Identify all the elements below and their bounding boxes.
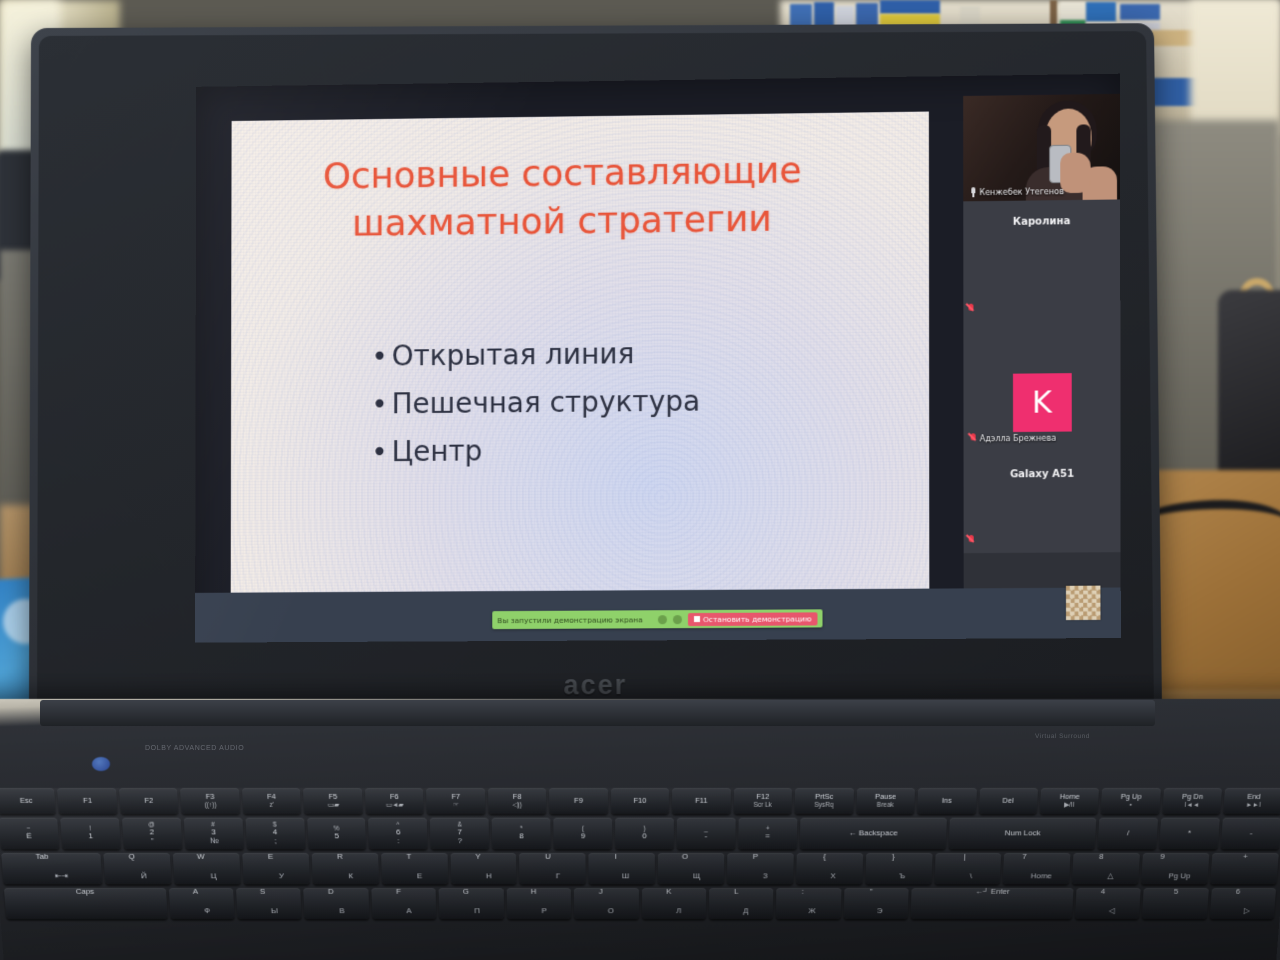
key-label: F11 xyxy=(695,797,707,805)
key-+[interactable]: + xyxy=(1210,853,1279,884)
key-label: = xyxy=(765,833,770,841)
slide-bullet-item: Центр xyxy=(371,424,899,476)
key-esc[interactable]: Esc xyxy=(0,788,56,814)
key-w[interactable]: WЦ xyxy=(173,853,241,884)
key-sublabel: Scr Lk xyxy=(753,801,771,808)
key-label: F1 xyxy=(83,797,92,805)
key-cyrillic-label: Ж xyxy=(808,908,815,916)
chessboard-thumbnail[interactable] xyxy=(1066,586,1101,620)
key-cyrillic-label: Г xyxy=(556,873,560,881)
key-label: Pg Up xyxy=(1120,793,1141,801)
key-label: 0 xyxy=(642,833,646,841)
key-f5[interactable]: F5▭▰ xyxy=(303,788,362,814)
key-label: " xyxy=(870,888,873,896)
key-1[interactable]: !1 xyxy=(60,818,121,849)
key-cyrillic-label: З xyxy=(763,873,768,881)
key-label: PrtSc xyxy=(815,793,834,801)
mic-off-icon-wrap xyxy=(968,535,975,547)
key--[interactable]: _- xyxy=(677,818,736,849)
key-}[interactable]: }Ъ xyxy=(865,853,932,884)
key-j[interactable]: JО xyxy=(574,888,639,919)
key-cyrillic-label: Э xyxy=(877,908,883,916)
key-sublabel: ▭◄▰ xyxy=(386,801,404,808)
avatar: K xyxy=(1012,373,1071,432)
key-:[interactable]: :Ж xyxy=(776,888,841,919)
key-shift-label: _ xyxy=(704,826,708,833)
key-8[interactable]: *8 xyxy=(492,818,551,849)
key-cyrillic-label: \ xyxy=(970,873,973,881)
key-f8[interactable]: F8◁)) xyxy=(488,788,547,814)
key-cyrillic-label: Й xyxy=(141,873,147,881)
dolby-audio-label: DOLBY ADVANCED AUDIO xyxy=(145,745,244,752)
key-f4[interactable]: F4z' xyxy=(242,788,302,814)
key-end[interactable]: End►►I xyxy=(1224,788,1280,814)
key-shift-label: $ xyxy=(273,821,277,828)
key-o[interactable]: OЩ xyxy=(658,853,724,884)
keyboard-qwerty-row[interactable]: Tab⇤⇥QЙWЦEУRКTЕYНUГIШOЩPЗ{Х}Ъ|\7Home8△9P… xyxy=(0,853,1280,884)
key-cyrillic-label: Ы xyxy=(271,908,278,916)
key-cyrillic-label: ? xyxy=(458,837,463,845)
key-label: D xyxy=(328,888,334,896)
key-label: F8 xyxy=(513,793,522,801)
key-label: F12 xyxy=(756,793,769,801)
key-=[interactable]: += xyxy=(738,818,797,849)
key-sublabel: I◄◄ xyxy=(1184,801,1199,808)
key-del[interactable]: Del xyxy=(978,788,1038,814)
key-cyrillic-label: Е xyxy=(417,873,423,881)
key-num-lock[interactable]: Num Lock xyxy=(949,818,1097,849)
slide-bullet-item: Пешечная структура xyxy=(371,376,899,429)
key-cyrillic-label: Ф xyxy=(204,908,210,916)
key-label: ← Backspace xyxy=(848,829,897,837)
key-label: Pg Dn xyxy=(1182,793,1203,801)
key-shift-label: ~ xyxy=(26,826,30,833)
key-label: F4 xyxy=(267,793,276,801)
participant-name: Кенжебек Утегенов xyxy=(979,187,1064,197)
key-label: 6 xyxy=(1235,888,1240,896)
key-cyrillic-label: Д xyxy=(743,908,748,916)
key-9[interactable]: 9Pg Up xyxy=(1141,853,1209,884)
key-cyrillic-label: В xyxy=(339,908,345,916)
key-cyrillic-label: К xyxy=(348,873,353,881)
participant-tile-name-only[interactable]: Каролина xyxy=(963,199,1120,321)
key-pg-dn[interactable]: Pg DnI◄◄ xyxy=(1162,788,1222,814)
key-label: F xyxy=(396,888,401,896)
key-label: 9 xyxy=(1160,853,1165,861)
key-cyrillic-label: П xyxy=(474,908,480,916)
key-label: 1 xyxy=(88,833,93,841)
key-cyrillic-label: Ъ xyxy=(899,873,906,881)
key-shift-label: # xyxy=(211,821,215,828)
key-sublabel: ▶/II xyxy=(1064,801,1075,808)
participant-name: Каролина xyxy=(963,216,1120,229)
participant-name: Адэлла Брежнева xyxy=(980,433,1056,443)
key-shift-label: * xyxy=(520,826,523,833)
key-label: 5 xyxy=(1173,888,1178,896)
key-*[interactable]: * xyxy=(1159,818,1220,849)
key-label: Del xyxy=(1002,797,1014,805)
participant-tile-video[interactable]: Кенжебек Утегенов xyxy=(963,94,1120,202)
key-sublabel: ▭▰ xyxy=(328,801,339,808)
key-label: L xyxy=(734,888,738,896)
key-shift-label: ! xyxy=(89,826,91,833)
key-sublabel: ◁)) xyxy=(513,801,522,808)
stop-share-label: Остановить демонстрацию xyxy=(703,614,811,624)
key-prtsc[interactable]: PrtScSysRq xyxy=(795,788,854,814)
key-label: F7 xyxy=(451,793,460,801)
shared-slide: Основные составляющие шахматной стратеги… xyxy=(231,112,930,608)
key-cyrillic-label: ▷ xyxy=(1243,908,1250,916)
key-home[interactable]: Home▶/II xyxy=(1040,788,1100,814)
key-label: 8 xyxy=(519,833,524,841)
key-label: H xyxy=(531,888,537,896)
key-label: | xyxy=(963,853,965,861)
key-cyrillic-label: Х xyxy=(830,873,835,881)
key-5[interactable]: 5 xyxy=(1142,888,1209,919)
participant-tile-device[interactable]: Galaxy A51 xyxy=(964,446,1121,553)
slide-title-line1: Основные составляющие xyxy=(231,146,894,202)
participant-tile-avatar[interactable]: K Адэлла Брежнева xyxy=(963,320,1120,447)
mic-off-icon xyxy=(968,535,975,545)
key-sublabel: SysRq xyxy=(814,801,833,808)
key-e[interactable]: EУ xyxy=(242,853,310,884)
key-g[interactable]: GП xyxy=(439,888,504,919)
key-sublabel: ☞ xyxy=(453,801,459,808)
key-h[interactable]: HР xyxy=(506,888,571,919)
key-←-backspace[interactable]: ← Backspace xyxy=(800,818,947,849)
stop-square-icon xyxy=(694,616,700,622)
key-label: F5 xyxy=(328,793,337,801)
key-cyrillic-label: " xyxy=(151,837,154,845)
key-l[interactable]: LД xyxy=(709,888,774,919)
participant-name: Galaxy A51 xyxy=(964,468,1121,480)
key-cyrillic-label: Л xyxy=(676,908,681,916)
key-pause[interactable]: PauseBreak xyxy=(856,788,915,814)
key-label: P xyxy=(753,853,758,861)
key-ё[interactable]: ~Ё xyxy=(0,818,59,849)
key-sublabel: z' xyxy=(269,801,274,808)
key-5[interactable]: %5 xyxy=(307,818,367,849)
power-indicator-icon xyxy=(92,757,110,771)
key-f9[interactable]: F9 xyxy=(549,788,608,814)
pin-icon xyxy=(969,187,976,197)
key-f3[interactable]: F3((↑)) xyxy=(180,788,240,814)
mic-off-icon xyxy=(970,433,977,443)
key-label: 4 xyxy=(1100,888,1105,896)
key-cyrillic-label: ⇤⇥ xyxy=(55,873,69,881)
key-cyrillic-label: О xyxy=(608,908,614,916)
key-label: F3 xyxy=(206,793,215,801)
key-label: 9 xyxy=(581,833,585,841)
laptop-hinge xyxy=(40,700,1155,726)
key-pg-up[interactable]: Pg Up▪ xyxy=(1101,788,1161,814)
key-{[interactable]: {Х xyxy=(796,853,863,884)
key-label: T xyxy=(406,853,411,861)
key-cyrillic-label: Pg Up xyxy=(1168,873,1191,881)
key-q[interactable]: QЙ xyxy=(104,853,172,884)
key-f6[interactable]: F6▭◄▰ xyxy=(365,788,424,814)
key-cyrillic-label: △ xyxy=(1107,873,1114,881)
key-t[interactable]: TЕ xyxy=(381,853,448,884)
key-a[interactable]: AФ xyxy=(168,888,234,919)
key-7[interactable]: 7Home xyxy=(1003,853,1071,884)
key-f7[interactable]: F7☞ xyxy=(426,788,485,814)
key-label: - xyxy=(705,833,708,841)
key-i[interactable]: IШ xyxy=(589,853,655,884)
laptop: acer Основные составляющие шахматной стр… xyxy=(0,0,1280,960)
key-label: + xyxy=(1243,853,1248,861)
key-label: Num Lock xyxy=(1004,829,1040,837)
key-shift-label: ^ xyxy=(396,821,399,828)
key-label: } xyxy=(892,853,895,861)
key-f12[interactable]: F12Scr Lk xyxy=(733,788,792,814)
key-6[interactable]: 6▷ xyxy=(1209,888,1276,919)
key-cyrillic-label: Н xyxy=(486,873,492,881)
key-cyrillic-label: Р xyxy=(542,908,547,916)
key-label: Q xyxy=(128,853,135,861)
key-label: F6 xyxy=(390,793,399,801)
key-cyrillic-label: № xyxy=(209,837,218,845)
key-tab[interactable]: Tab⇤⇥ xyxy=(1,853,103,884)
key-cyrillic-label: Щ xyxy=(693,873,700,881)
key-y[interactable]: YН xyxy=(450,853,517,884)
key-label: S xyxy=(260,888,266,896)
share-status-text: Вы запустили демонстрацию экрана xyxy=(497,615,652,625)
slide-title: Основные составляющие шахматной стратеги… xyxy=(231,146,894,250)
key-label: G xyxy=(463,888,469,896)
key-label: * xyxy=(1188,829,1192,837)
key--[interactable]: - xyxy=(1221,818,1280,849)
key-label: 5 xyxy=(334,833,339,841)
laptop-screen: Основные составляющие шахматной стратеги… xyxy=(195,74,1121,643)
key-cyrillic-label: Ц xyxy=(210,873,216,881)
key-k[interactable]: KЛ xyxy=(641,888,706,919)
key-cyrillic-label: А xyxy=(406,908,412,916)
key-|[interactable]: |\ xyxy=(934,853,1001,884)
key-shift-label: ( xyxy=(582,826,584,833)
key-cyrillic-label: У xyxy=(279,873,284,881)
key-enter[interactable]: ←┘ Enter xyxy=(911,888,1074,919)
key-label: { xyxy=(823,853,826,861)
key-sublabel: ►►I xyxy=(1246,801,1261,808)
key-label: A xyxy=(193,888,199,896)
key-label: E xyxy=(268,853,274,861)
mic-off-icon xyxy=(967,304,974,314)
mic-off-icon-wrap xyxy=(967,304,974,316)
key-2[interactable]: @2" xyxy=(122,818,182,849)
key-label: Home xyxy=(1059,793,1079,801)
key-label: J xyxy=(599,888,603,896)
key-label: ←┘ Enter xyxy=(975,888,1010,896)
key-/[interactable]: / xyxy=(1098,818,1158,849)
key-shift-label: @ xyxy=(148,821,155,828)
key-label: : xyxy=(802,888,804,896)
key-label: F10 xyxy=(633,797,646,805)
stop-share-button[interactable]: Остановить демонстрацию xyxy=(688,612,818,626)
mute-icon[interactable] xyxy=(658,615,667,624)
key-7[interactable]: &7? xyxy=(430,818,489,849)
keyboard-function-row[interactable]: EscF1F2F3((↑))F4z'F5▭▰F6▭◄▰F7☞F8◁))F9F10… xyxy=(0,788,1280,814)
zoom-participant-rail[interactable]: Кенжебек Утегенов Каролина K Адэлла Бреж… xyxy=(963,94,1121,589)
key-label: Y xyxy=(475,853,480,861)
key-9[interactable]: (9 xyxy=(553,818,612,849)
key-sublabel: ▪ xyxy=(1129,801,1132,808)
person-hand xyxy=(1060,153,1090,194)
key-4[interactable]: $4; xyxy=(245,818,305,849)
video-icon[interactable] xyxy=(673,615,682,624)
slide-title-line2: шахматной стратегии xyxy=(231,194,894,250)
key-label: K xyxy=(666,888,671,896)
key-u[interactable]: UГ xyxy=(519,853,586,884)
key-6[interactable]: ^6: xyxy=(368,818,428,849)
key-label: 8 xyxy=(1099,853,1104,861)
key-sublabel: Break xyxy=(877,801,894,808)
key-cyrillic-label: : xyxy=(397,837,399,845)
participant-name-row: Адэлла Брежнева xyxy=(970,433,1057,444)
key-label: Ё xyxy=(26,833,32,841)
key-label: End xyxy=(1247,793,1261,801)
key-label: W xyxy=(197,853,205,861)
key-shift-label: % xyxy=(334,826,340,833)
key-label: Tab xyxy=(35,853,48,861)
key-caps[interactable]: Caps xyxy=(4,888,167,919)
key-8[interactable]: 8△ xyxy=(1072,853,1140,884)
key-shift-label: + xyxy=(766,826,770,833)
slide-bullet-list: Открытая линия Пешечная структура Центр xyxy=(371,328,899,477)
key-label: U xyxy=(545,853,551,861)
key-r[interactable]: RК xyxy=(312,853,379,884)
key-label: 7 xyxy=(1022,853,1027,861)
key-d[interactable]: DВ xyxy=(304,888,370,919)
key-3[interactable]: #3№ xyxy=(183,818,243,849)
key-s[interactable]: SЫ xyxy=(236,888,302,919)
virtual-surround-label: Virtual Surround xyxy=(1035,733,1090,740)
key-ins[interactable]: Ins xyxy=(917,788,976,814)
key-label: Ins xyxy=(942,797,952,805)
key-4[interactable]: 4◁ xyxy=(1075,888,1141,919)
slide-bullet-item: Открытая линия xyxy=(371,328,898,381)
key-0[interactable]: )0 xyxy=(615,818,674,849)
key-cyrillic-label: ◁ xyxy=(1109,908,1116,916)
key-cyrillic-label: Home xyxy=(1030,873,1052,881)
key-sublabel: ((↑)) xyxy=(204,801,216,808)
key-label: F2 xyxy=(144,797,153,805)
key-label: F9 xyxy=(574,797,583,805)
key-shift-label: ) xyxy=(643,826,645,833)
key-label: I xyxy=(615,853,617,861)
key-f2[interactable]: F2 xyxy=(119,788,179,814)
screen-share-toolbar[interactable]: Вы запустили демонстрацию экрана Останов… xyxy=(492,609,822,629)
key-f11[interactable]: F11 xyxy=(672,788,731,814)
key-f10[interactable]: F10 xyxy=(611,788,669,814)
key-cyrillic-label: ; xyxy=(274,837,277,845)
key-cyrillic-label: Ш xyxy=(622,873,629,881)
key-p[interactable]: PЗ xyxy=(727,853,794,884)
participant-name-row: Кенжебек Утегенов xyxy=(969,186,1064,197)
key-label: Caps xyxy=(75,888,94,896)
key-label: Pause xyxy=(875,793,896,801)
key-f[interactable]: FА xyxy=(371,888,436,919)
keyboard-home-row[interactable]: CapsAФSЫDВFАGПHРJОKЛLД:Ж"Э←┘ Enter4◁56▷ xyxy=(0,888,1280,919)
keyboard[interactable]: EscF1F2F3((↑))F4z'F5▭▰F6▭◄▰F7☞F8◁))F9F10… xyxy=(0,788,1280,960)
key-label: Esc xyxy=(20,797,33,805)
key-f1[interactable]: F1 xyxy=(57,788,117,814)
keyboard-number-row[interactable]: ~Ё!1@2"#3№$4;%5^6:&7?*8(9)0_-+=← Backspa… xyxy=(0,818,1280,849)
key-label: - xyxy=(1249,829,1252,837)
key-"[interactable]: "Э xyxy=(843,888,908,919)
key-shift-label: & xyxy=(457,821,461,828)
key-label: O xyxy=(682,853,688,861)
key-label: / xyxy=(1127,829,1130,837)
key-label: R xyxy=(337,853,343,861)
